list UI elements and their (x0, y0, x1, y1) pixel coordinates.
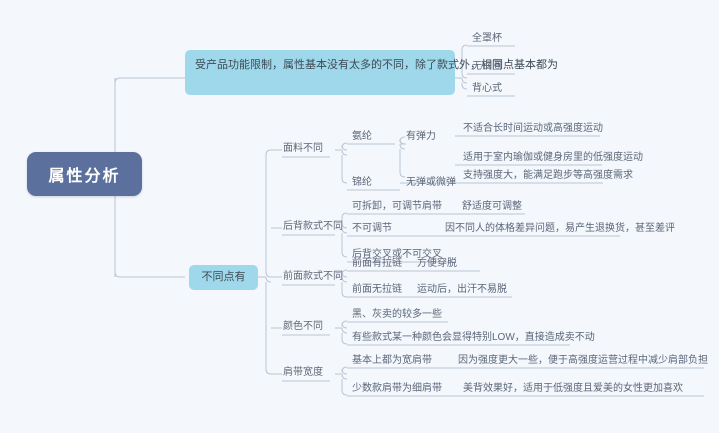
leaf-label: 无钢圈 (472, 60, 502, 74)
note-anlun-0[interactable]: 不适合长时间运动或高强度运动 (463, 122, 713, 136)
leaf-label: 全罩杯 (472, 32, 502, 46)
root-node[interactable]: 属性分析 (27, 152, 142, 196)
branch-node-diff-points-label: 不同点有 (202, 269, 246, 286)
row-name: 前面无拉链 (352, 283, 402, 297)
row-attr: 因不同人的体格差异问题，易产生退换货，甚至差评 (445, 222, 675, 236)
row-attr-front-zipper[interactable]: 方便穿脱 (417, 257, 527, 271)
row-name: 锦纶 (352, 176, 372, 190)
row-name-detachable-strap[interactable]: 可拆卸，可调节肩带 (352, 200, 462, 214)
group-label-color[interactable]: 颜色不同 (283, 320, 343, 334)
row-name: 黑、灰卖的较多一些 (352, 308, 442, 322)
leaf-label: 背心式 (472, 82, 502, 96)
row-attr: 因为强度更大一些，便于高强度运营过程中减少肩部负担 (458, 354, 708, 368)
row-name: 少数款肩带为细肩带 (352, 382, 442, 396)
row-name-anlun[interactable]: 氨纶 (352, 130, 412, 144)
row-attr: 美背效果好，适用于低强度且爱美的女性更加喜欢 (463, 382, 683, 396)
group-label-fabric[interactable]: 面料不同 (283, 142, 343, 156)
note-text: 不适合长时间运动或高强度运动 (463, 122, 603, 136)
row-attr-non-adjustable[interactable]: 因不同人的体格差异问题，易产生退换货，甚至差评 (445, 222, 695, 236)
row-attr-wide-strap[interactable]: 因为强度更大一些，便于高强度运营过程中减少肩部负担 (458, 354, 713, 368)
row-name-color-black-grey[interactable]: 黑、灰卖的较多一些 (352, 308, 492, 322)
row-attr-no-front-zipper[interactable]: 运动后，出汗不易脱 (417, 283, 547, 297)
note-jinlun-0[interactable]: 支持强度大，能满足跑步等高强度需求 (463, 169, 713, 183)
row-name: 有些款式某一种颜色会显得特别LOW，直接造成卖不动 (352, 331, 595, 345)
row-attr-thin-strap[interactable]: 美背效果好，适用于低强度且爱美的女性更加喜欢 (463, 382, 718, 396)
group-label: 颜色不同 (283, 320, 323, 334)
group-label: 前面款式不同 (283, 270, 343, 284)
row-name-non-adjustable[interactable]: 不可调节 (352, 222, 432, 236)
mindmap-canvas: 属性分析 受产品功能限制，属性基本没有太多的不同，除了款式外，相同点基本都为 全… (0, 0, 719, 433)
group-label: 后背款式不同 (283, 220, 343, 234)
group-label: 面料不同 (283, 142, 323, 156)
row-name: 氨纶 (352, 130, 372, 144)
row-name-wide-strap[interactable]: 基本上都为宽肩带 (352, 354, 462, 368)
note-anlun-1[interactable]: 适用于室内瑜伽或健身房里的低强度运动 (463, 151, 713, 165)
branch-node-diff-points[interactable]: 不同点有 (189, 265, 258, 290)
group-label: 肩带宽度 (283, 366, 323, 380)
leaf-wu-gang-quan[interactable]: 无钢圈 (472, 60, 592, 74)
root-node-label: 属性分析 (48, 162, 120, 186)
branch-node-same-points[interactable]: 受产品功能限制，属性基本没有太多的不同，除了款式外，相同点基本都为 (185, 50, 455, 95)
row-attr: 舒适度可调整 (462, 200, 522, 214)
row-attr: 方便穿脱 (417, 257, 457, 271)
row-name: 前面有拉链 (352, 257, 402, 271)
leaf-bei-xin-shi[interactable]: 背心式 (472, 82, 592, 96)
branch-line-diff-points (115, 272, 185, 277)
row-name-color-low[interactable]: 有些款式某一种颜色会显得特别LOW，直接造成卖不动 (352, 331, 612, 345)
group-bracket (266, 150, 271, 374)
row-attr: 无弹或微弹 (406, 176, 456, 190)
row-attr-detachable-strap[interactable]: 舒适度可调整 (462, 200, 572, 214)
note-text: 支持强度大，能满足跑步等高强度需求 (463, 169, 633, 183)
group-label-front-style[interactable]: 前面款式不同 (283, 270, 353, 284)
leaf-quan-zhao-bei[interactable]: 全罩杯 (472, 32, 592, 46)
row-attr: 运动后，出汗不易脱 (417, 283, 507, 297)
group-label-back-style[interactable]: 后背款式不同 (283, 220, 353, 234)
row-name-thin-strap[interactable]: 少数款肩带为细肩带 (352, 382, 462, 396)
row-name: 不可调节 (352, 222, 392, 236)
row-name: 可拆卸，可调节肩带 (352, 200, 442, 214)
row-name-jinlun[interactable]: 锦纶 (352, 176, 412, 190)
row-attr: 有弹力 (406, 130, 436, 144)
row-name: 基本上都为宽肩带 (352, 354, 432, 368)
note-text: 适用于室内瑜伽或健身房里的低强度运动 (463, 151, 643, 165)
group-label-strap-width[interactable]: 肩带宽度 (283, 366, 343, 380)
branch-line-same-points (115, 78, 185, 83)
